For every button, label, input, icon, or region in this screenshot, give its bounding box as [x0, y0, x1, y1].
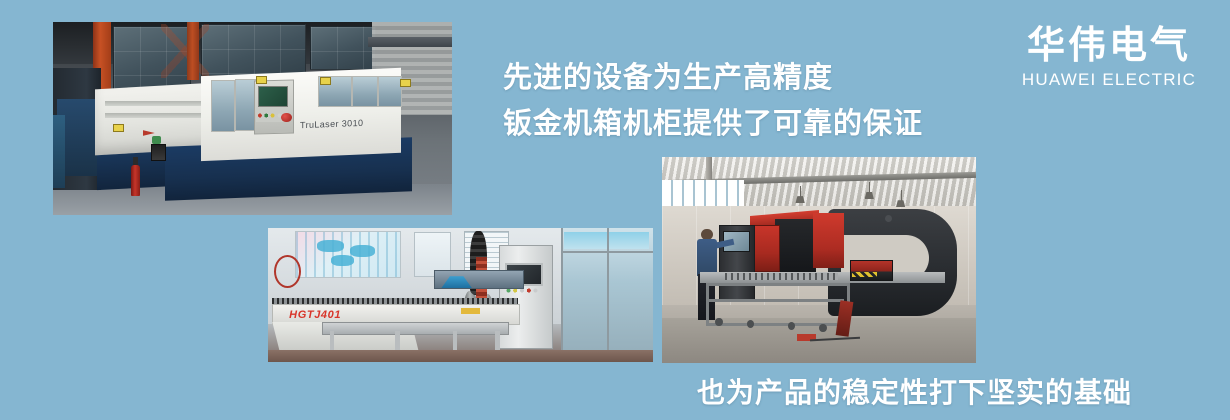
headline-line-1: 先进的设备为生产高精度 — [503, 55, 923, 101]
machine-housing — [813, 213, 844, 269]
hose-coil — [274, 255, 301, 288]
cabin-window — [211, 80, 235, 132]
photo-laser-cutting-machine: TruLaser 3010 — [53, 22, 452, 215]
warning-sticker — [256, 76, 267, 84]
window-pane — [310, 26, 376, 70]
operator-torso — [697, 239, 717, 276]
warning-sticker — [400, 79, 411, 87]
clerestory-windows — [662, 180, 744, 207]
structural-column — [187, 22, 200, 80]
photo-plasma-cutting-table: HGTJ401 — [268, 228, 653, 362]
caster-wheel — [788, 322, 796, 330]
machine-model-label: HGTJ401 — [289, 309, 341, 321]
control-box — [151, 144, 166, 161]
warning-sticker — [461, 308, 480, 313]
window-pane — [201, 24, 307, 76]
frame-bore — [885, 215, 892, 222]
table-frame — [706, 283, 850, 326]
enclosure-slat — [105, 113, 201, 118]
hazard-stripe — [852, 272, 877, 277]
frame-post — [561, 228, 563, 362]
warning-sticker — [320, 77, 331, 85]
company-logo: 华伟电气 HUAWEI ELECTRIC — [1014, 24, 1204, 90]
poster-graphic — [331, 255, 354, 266]
machine-body — [775, 219, 816, 273]
table-brace — [706, 299, 844, 302]
status-lamp — [152, 136, 161, 144]
caster-wheel — [715, 318, 723, 326]
console-screen — [258, 86, 288, 107]
roof-brace — [161, 24, 209, 78]
output-table — [322, 322, 509, 335]
cabin-window — [352, 76, 378, 107]
logo-english-name: HUAWEI ELECTRIC — [1014, 70, 1204, 90]
photo-cnc-punch-press — [662, 157, 976, 363]
door-rail — [368, 37, 452, 47]
fire-extinguisher — [131, 165, 141, 196]
emergency-stop-button — [281, 113, 291, 123]
tagline: 也为产品的稳定性打下坚实的基础 — [697, 371, 1132, 411]
frame-post — [607, 228, 609, 362]
perforated-sheet — [725, 273, 838, 279]
tool-cart — [850, 260, 893, 281]
workshop-floor — [268, 350, 653, 362]
cabin-window — [378, 76, 402, 107]
wall-door — [53, 115, 65, 188]
poster-graphic — [350, 245, 375, 257]
wall-poster — [295, 231, 401, 279]
caster-wheel — [819, 324, 827, 332]
logo-chinese-name: 华伟电气 — [1014, 24, 1204, 68]
headline: 先进的设备为生产高精度 钣金机箱机柜提供了可靠的保证 — [503, 55, 923, 147]
warning-sticker — [113, 124, 124, 132]
poster-graphic — [317, 240, 344, 252]
promo-banner: TruLaser 3010 — [0, 0, 1230, 420]
enclosure-slat — [105, 101, 201, 106]
headline-line-2: 钣金机箱机柜提供了可靠的保证 — [503, 101, 923, 147]
frame-rail — [561, 251, 653, 253]
